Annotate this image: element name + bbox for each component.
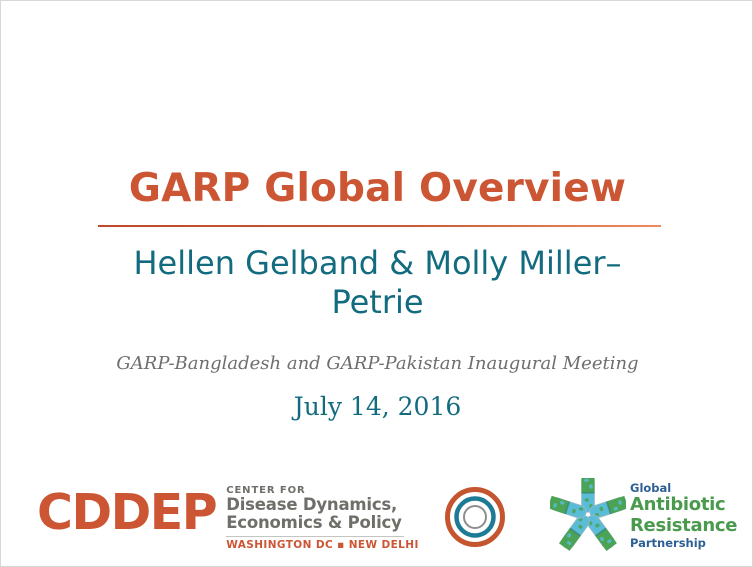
cddep-divider	[226, 536, 404, 537]
cddep-logo: CDDEP CENTER FOR Disease Dynamics, Econo…	[37, 479, 419, 551]
garp-logo: Global Antibiotic Resistance Partnership	[550, 478, 737, 554]
cddep-cities-label: WASHINGTON DC ▪ NEW DELHI	[226, 540, 419, 552]
concentric-rings-icon	[444, 486, 506, 548]
cddep-tagline-block: CENTER FOR Disease Dynamics, Economics &…	[226, 479, 419, 551]
garp-capsule-star-icon	[550, 478, 626, 554]
presenter-names: Hellen Gelband & Molly Miller–Petrie	[119, 244, 636, 322]
page-title: GARP Global Overview	[1, 169, 753, 210]
garp-word-resistance: Resistance	[630, 516, 737, 537]
title-underline-rule	[98, 225, 661, 227]
cddep-tagline-line1: Disease Dynamics,	[226, 496, 419, 514]
cddep-tagline-line2: Economics & Policy	[226, 514, 419, 532]
title-block: GARP Global Overview	[1, 169, 753, 210]
garp-wordmark: Global Antibiotic Resistance Partnership	[630, 481, 737, 552]
garp-word-antibiotic: Antibiotic	[630, 495, 737, 516]
garp-word-global: Global	[630, 481, 737, 495]
presentation-slide: GARP Global Overview Hellen Gelband & Mo…	[0, 0, 753, 567]
garp-word-partnership: Partnership	[630, 536, 737, 551]
cddep-wordmark: CDDEP	[37, 479, 216, 537]
slide-date: July 14, 2016	[1, 392, 753, 421]
logo-strip: CDDEP CENTER FOR Disease Dynamics, Econo…	[1, 473, 753, 567]
meeting-subtitle: GARP-Bangladesh and GARP-Pakistan Inaugu…	[1, 353, 753, 374]
